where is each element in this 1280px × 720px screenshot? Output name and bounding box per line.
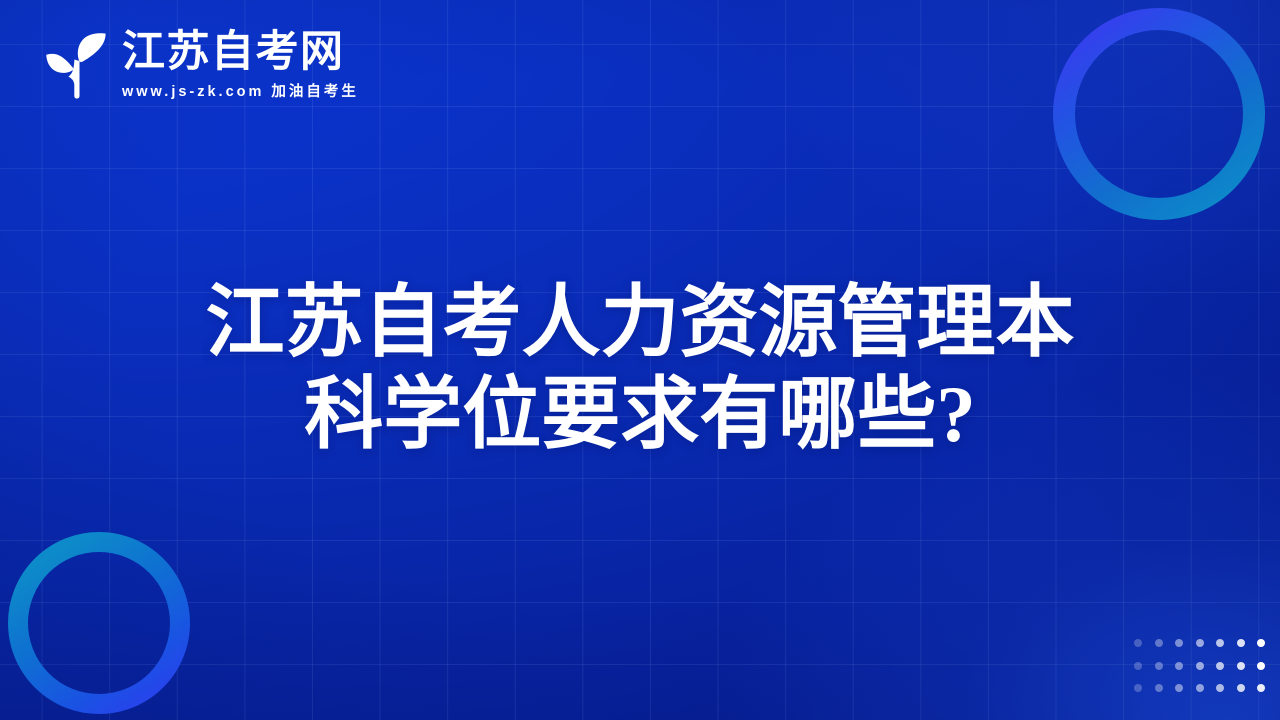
dot <box>1216 662 1224 670</box>
site-logo[interactable]: 江苏自考网 www.js-zk.com 加油自考生 <box>38 26 359 102</box>
dot <box>1175 639 1183 647</box>
dot <box>1196 639 1204 647</box>
banner-canvas: 江苏自考网 www.js-zk.com 加油自考生 江苏自考人力资源管理本 科学… <box>0 0 1280 720</box>
page-title-line-1: 江苏自考人力资源管理本 <box>120 278 1160 370</box>
dot <box>1134 662 1142 670</box>
decorative-ring-top-right-icon <box>1053 8 1265 220</box>
decorative-ring-bottom-left-icon <box>8 532 190 714</box>
dot <box>1175 662 1183 670</box>
dot <box>1196 684 1204 692</box>
dot <box>1155 684 1163 692</box>
page-title-line-2: 科学位要求有哪些? <box>120 370 1160 462</box>
dot <box>1257 662 1265 670</box>
dot <box>1257 639 1265 647</box>
sprout-icon <box>38 26 114 102</box>
dot <box>1237 639 1245 647</box>
dot <box>1196 662 1204 670</box>
logo-text-block: 江苏自考网 www.js-zk.com 加油自考生 <box>122 29 359 100</box>
dot <box>1134 684 1142 692</box>
dot <box>1237 662 1245 670</box>
logo-tagline: www.js-zk.com 加油自考生 <box>122 85 359 100</box>
dot <box>1237 684 1245 692</box>
logo-wordmark: 江苏自考网 <box>122 31 359 74</box>
decorative-dot-grid-icon <box>1128 632 1272 700</box>
dot <box>1216 684 1224 692</box>
dot <box>1216 639 1224 647</box>
dot <box>1175 684 1183 692</box>
dot <box>1257 684 1265 692</box>
dot <box>1155 639 1163 647</box>
dot <box>1134 639 1142 647</box>
page-title: 江苏自考人力资源管理本 科学位要求有哪些? <box>0 278 1280 462</box>
dot <box>1155 662 1163 670</box>
